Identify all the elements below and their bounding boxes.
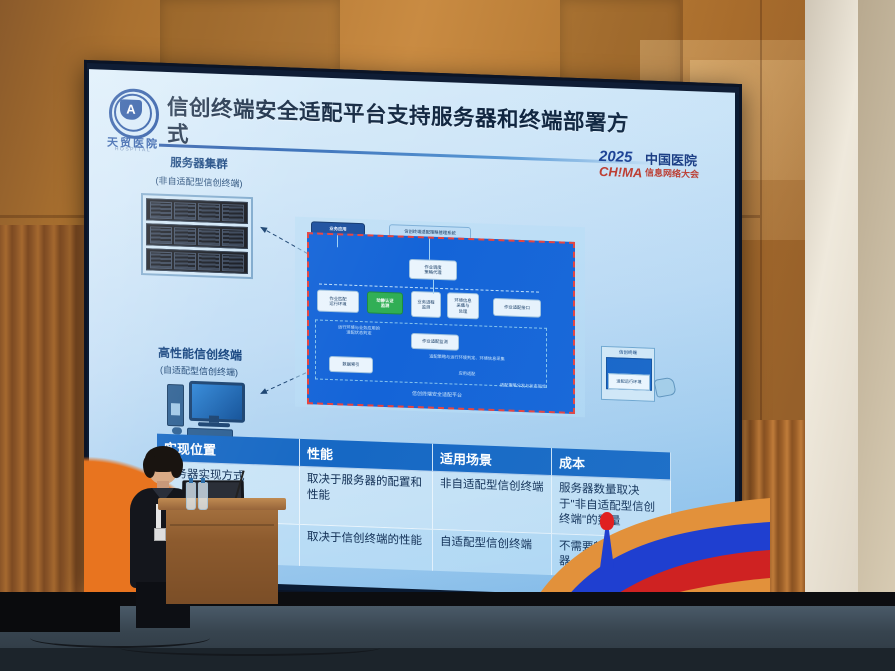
event-name-line2: 信息网络大会 <box>645 166 699 181</box>
hospital-logo: A 天贸医院 HOSPITAL <box>101 88 165 156</box>
server-cluster-subtitle: (非自适配型信创终端) <box>119 172 279 191</box>
wall-seam <box>760 0 762 420</box>
cell-1-2: 自适配型信创终端 <box>433 529 552 575</box>
arch-box-1: 动静认证 监测 <box>367 291 403 314</box>
cell-1-1: 取决于信创终端的性能 <box>300 524 433 570</box>
cell-0-1: 取决于服务器的配置和性能 <box>300 466 433 528</box>
col-header-3: 成本 <box>552 448 671 480</box>
server-rack-graphic <box>141 193 253 279</box>
event-chima-mark: CH!MA <box>599 164 642 181</box>
wall-column <box>805 0 861 620</box>
cell-0-2: 非自适配型信创终端 <box>433 471 552 533</box>
conference-hall-scene: A 天贸医院 HOSPITAL 信创终端安全适配平台支持服务器和终端部署方式 2… <box>0 0 895 671</box>
desktop-computer-graphic <box>167 380 245 439</box>
wall-louver <box>0 225 96 625</box>
right-terminal-inner-label: 适配运行环境 <box>608 373 650 391</box>
water-bottle <box>186 482 196 510</box>
arch-box-0: 作业匹配 运行环境 <box>317 289 359 313</box>
col-header-2: 适用场景 <box>433 444 552 476</box>
arch-box-2: 业务进程 监测 <box>411 291 441 318</box>
right-terminal-caption: 信创终端 <box>602 347 654 358</box>
stage-shadow <box>0 592 120 632</box>
chima-event-logo: 2025 CH!MA 中国医院 信息网络大会 <box>599 146 721 184</box>
hand-icon <box>653 377 676 398</box>
arch-box-3: 环境信息 采集与 处理 <box>447 292 479 319</box>
floor-cable <box>120 640 380 656</box>
podium <box>166 506 278 604</box>
stage-decor-vase <box>594 510 620 568</box>
arch-scheduling-agent-box: 作业调度 策略代理 <box>409 259 457 281</box>
water-bottle <box>198 482 208 510</box>
wall-column <box>858 0 895 620</box>
server-cluster-title: 服务器集群 <box>129 153 269 174</box>
right-terminal-graphic: 信创终端 适配运行环境 <box>601 346 655 402</box>
arch-box-4: 作业适配接口 <box>493 298 541 318</box>
hospital-logo-letter: A <box>120 99 142 120</box>
